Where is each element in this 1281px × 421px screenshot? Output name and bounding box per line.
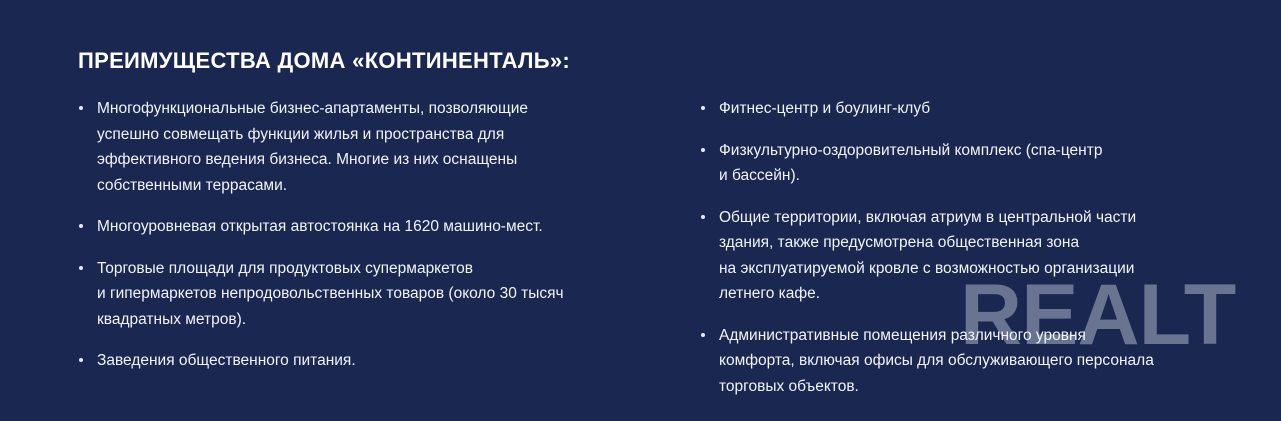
list-item-text: Физкультурно-оздоровительный комплекс (с… xyxy=(719,138,1220,189)
bullet-list-right: Фитнес-центр и боулинг-клуб Физкультурно… xyxy=(700,96,1281,399)
list-item: Фитнес-центр и боулинг-клуб xyxy=(700,96,1220,122)
list-item: Административные помещения различного ур… xyxy=(700,323,1220,400)
bullet-dot-icon xyxy=(701,215,705,219)
list-item: Физкультурно-оздоровительный комплекс (с… xyxy=(700,138,1220,189)
bullet-dot-icon xyxy=(701,333,705,337)
list-item-text: Административные помещения различного ур… xyxy=(719,323,1220,400)
bullet-dot-icon xyxy=(701,106,705,110)
list-item-text: Общие территории, включая атриум в центр… xyxy=(719,205,1220,307)
list-item: Общие территории, включая атриум в центр… xyxy=(700,205,1220,307)
advantages-columns: Многофункциональные бизнес-апартаменты, … xyxy=(0,96,1281,399)
bullet-dot-icon xyxy=(701,148,705,152)
slide-root: REALT ПРЕИМУЩЕСТВА ДОМА «КОНТИНЕНТАЛЬ»: … xyxy=(0,0,1281,421)
list-item-text: Фитнес-центр и боулинг-клуб xyxy=(719,96,1220,122)
advantages-column-right: Фитнес-центр и боулинг-клуб Физкультурно… xyxy=(0,96,1281,399)
page-title: ПРЕИМУЩЕСТВА ДОМА «КОНТИНЕНТАЛЬ»: xyxy=(78,48,570,74)
